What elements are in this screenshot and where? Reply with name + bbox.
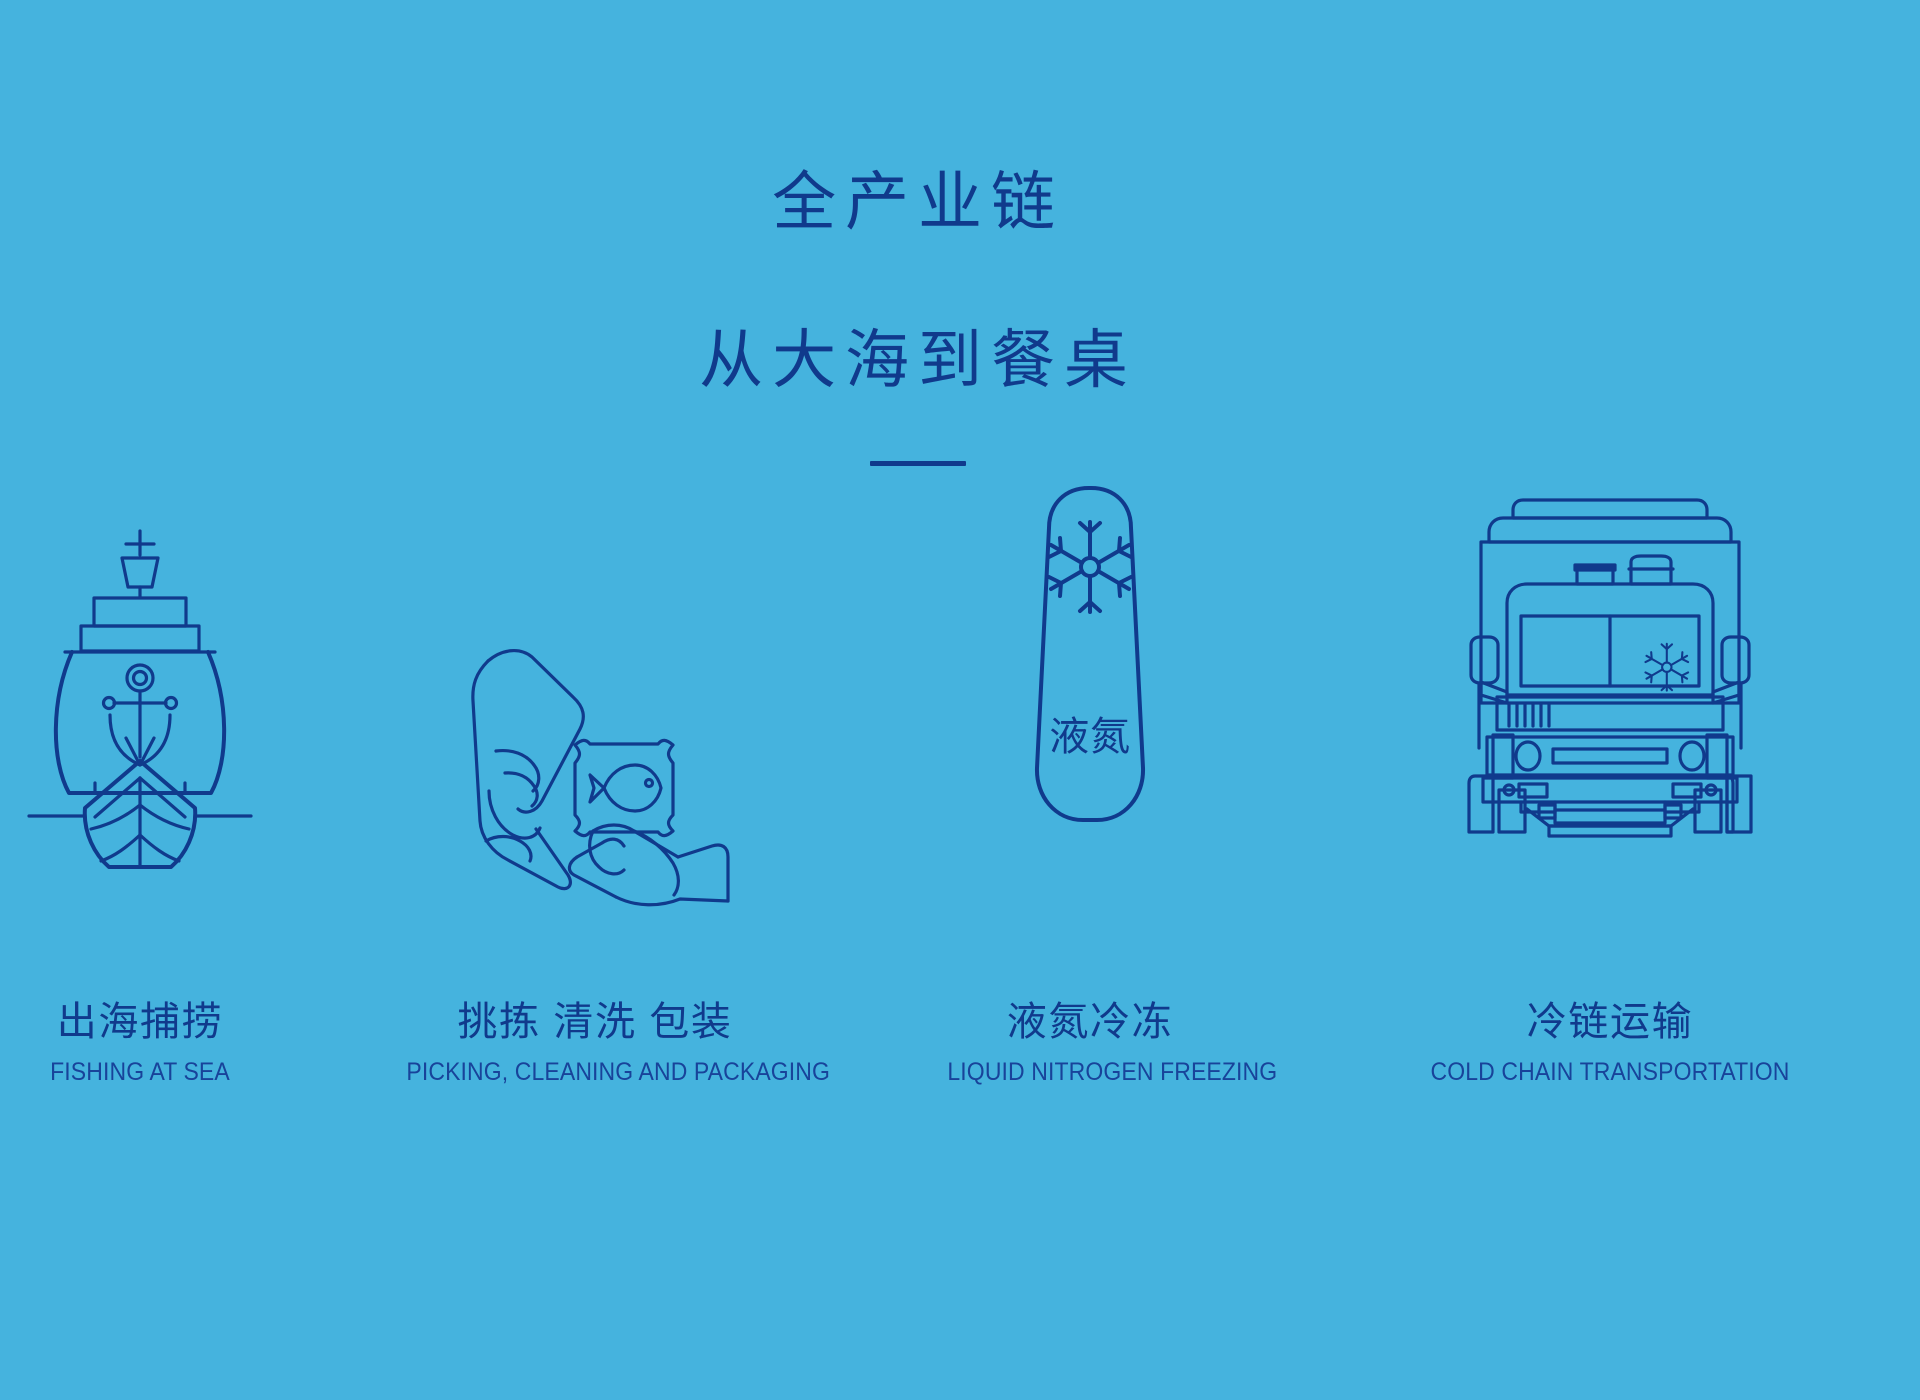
infographic-page: 全产业链 从大海到餐桌 [0,0,1920,1400]
snowflake-icon [1049,522,1131,612]
page-title-line-2: 从大海到餐桌 [0,328,1878,392]
label-block-fishing-at-sea: 出海捕捞 FISHING AT SEA [0,1000,290,1130]
label-block-cold-chain-transportation: 冷链运输 COLD CHAIN TRANSPORTATION [1390,1000,1830,1130]
step-label-en-2: LIQUID NITROGEN FREEZING [947,1056,1232,1090]
step-label-en-3: COLD CHAIN TRANSPORTATION [1408,1056,1813,1090]
fishing-boat-svg [25,525,255,845]
step-label-cn-0: 出海捕捞 [0,1000,290,1044]
refrigerated-truck-icon [1390,455,1830,855]
step-label-en-1: PICKING, CLEANING AND PACKAGING [406,1056,783,1090]
step-picking-cleaning-packaging [390,500,800,1020]
truck-svg [1465,490,1755,820]
snowflake-icon [1645,644,1688,691]
step-liquid-nitrogen-freezing: 液氮 [935,500,1245,1020]
hands-fish-svg [440,605,750,905]
page-title-line-1: 全产业链 [0,170,1878,234]
fishing-boat-icon [0,485,290,885]
step-label-en-0: FISHING AT SEA [2,1056,278,1090]
step-label-cn-3: 冷链运输 [1390,1000,1830,1044]
tank-label: 液氮 [1049,715,1131,759]
step-label-cn-1: 挑拣 清洗 包装 [390,1000,800,1044]
step-cold-chain-transportation [1390,500,1830,1020]
label-block-picking-cleaning-packaging: 挑拣 清洗 包装 PICKING, CLEANING AND PACKAGING [390,1000,800,1130]
nitrogen-tank-svg: 液氮 [1025,480,1155,830]
step-fishing-at-sea [0,500,290,1020]
step-label-cn-2: 液氮冷冻 [935,1000,1245,1044]
process-icon-row: 液氮 [0,500,1920,1020]
label-block-liquid-nitrogen-freezing: 液氮冷冻 LIQUID NITROGEN FREEZING [935,1000,1245,1130]
hands-with-packaged-fish-icon [390,555,800,955]
process-label-row: 出海捕捞 FISHING AT SEA 挑拣 清洗 包装 PICKING, CL… [0,1000,1920,1130]
liquid-nitrogen-tank-icon: 液氮 [935,455,1245,855]
